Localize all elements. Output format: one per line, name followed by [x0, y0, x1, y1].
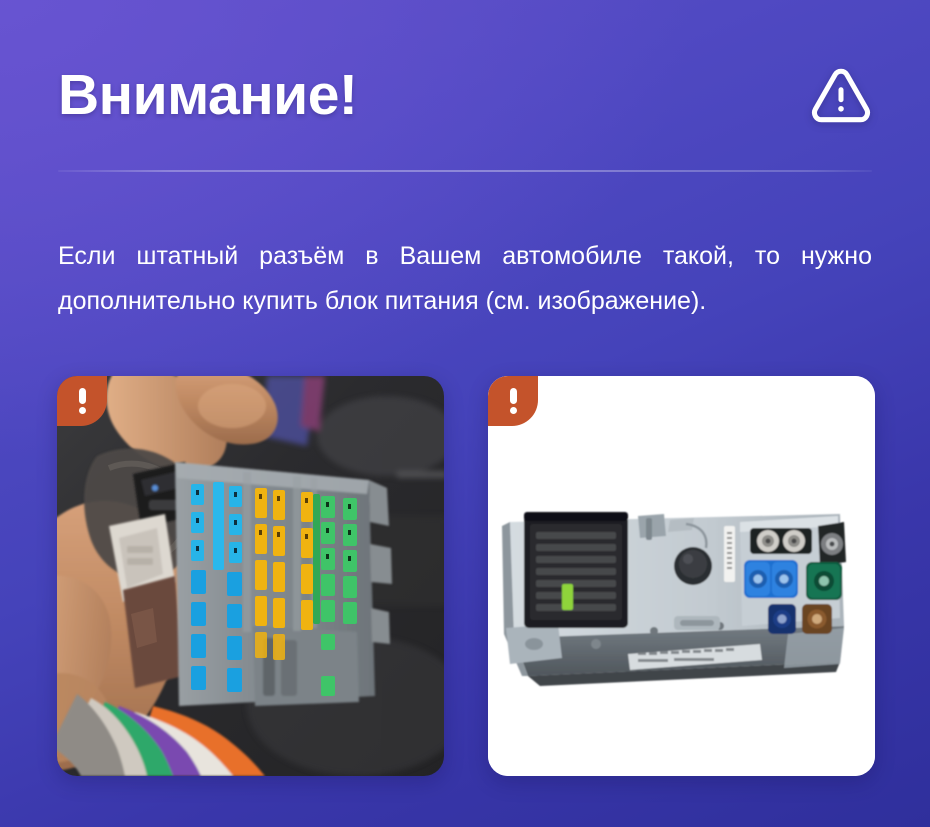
- page-title: Внимание!: [58, 67, 357, 124]
- exclamation-mark: [79, 388, 86, 414]
- body-copy: Если штатный разъём в Вашем автомобиле т…: [58, 234, 872, 324]
- exclamation-mark: [510, 388, 517, 414]
- body-copy-line-2: дополнительно купить блок питания (см. и…: [58, 279, 872, 324]
- connector-photo-card[interactable]: [57, 376, 444, 776]
- connector-photo: [57, 376, 444, 776]
- power-supply-photo: [488, 376, 875, 776]
- power-supply-photo-card[interactable]: [488, 376, 875, 776]
- image-card-row: [57, 376, 875, 776]
- warning-triangle-icon: [810, 64, 872, 126]
- header-divider: [58, 170, 872, 172]
- header: Внимание!: [58, 52, 872, 138]
- body-copy-line-1: Если штатный разъём в Вашем автомобиле т…: [58, 234, 872, 279]
- warning-banner-page: Внимание! Если штатный разъём в Вашем ав…: [0, 0, 930, 827]
